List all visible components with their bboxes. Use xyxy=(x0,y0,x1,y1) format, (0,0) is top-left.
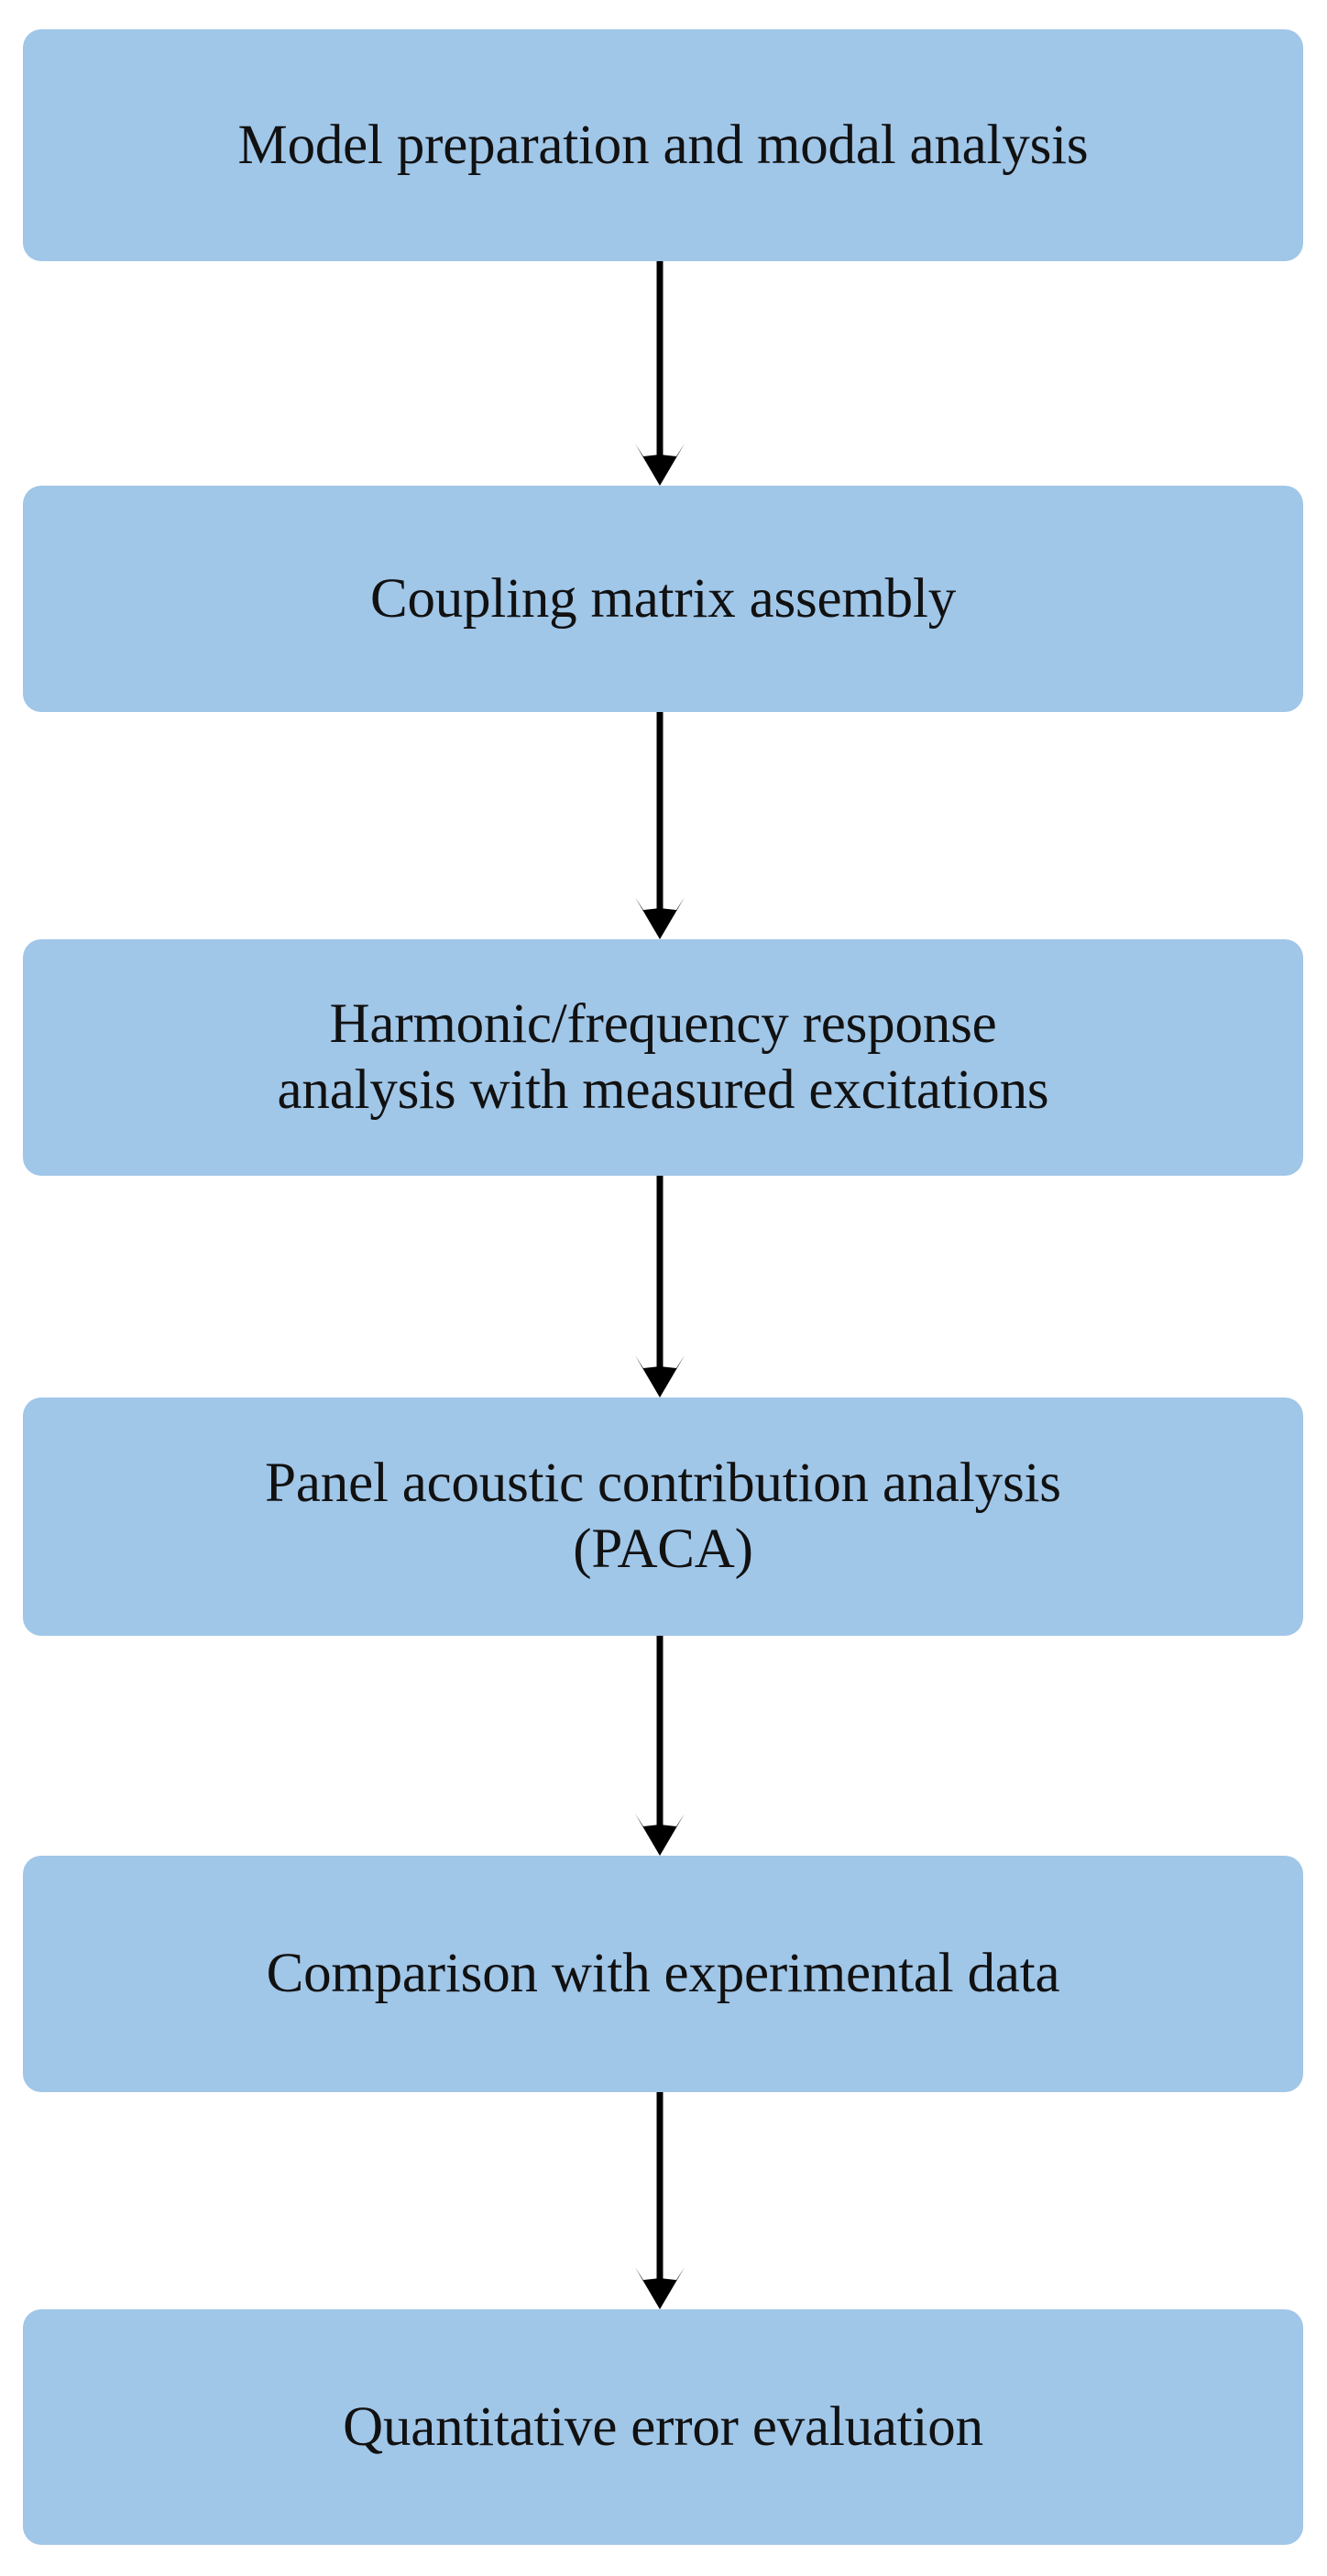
arrow-head xyxy=(635,1814,685,1856)
arrow-stem xyxy=(657,1176,663,1372)
arrow-head xyxy=(635,897,685,939)
flow-node-6[interactable]: Quantitative error evaluation xyxy=(23,2309,1303,2545)
flow-arrow-4 xyxy=(0,1636,1327,1856)
flow-node-label: Coupling matrix assembly xyxy=(370,566,956,632)
flow-node-1[interactable]: Model preparation and modal analysis xyxy=(23,29,1303,261)
flow-node-4[interactable]: Panel acoustic contribution analysis (PA… xyxy=(23,1398,1303,1636)
flow-arrow-2 xyxy=(0,712,1327,939)
flow-node-label: Panel acoustic contribution analysis (PA… xyxy=(265,1451,1061,1583)
flowchart-canvas: Model preparation and modal analysisCoup… xyxy=(0,0,1327,2576)
arrow-stem xyxy=(657,712,663,914)
flow-node-3[interactable]: Harmonic/frequency response analysis wit… xyxy=(23,939,1303,1176)
flow-arrow-1 xyxy=(0,261,1327,486)
flow-node-5[interactable]: Comparison with experimental data xyxy=(23,1856,1303,2092)
flow-arrow-3 xyxy=(0,1176,1327,1398)
arrow-stem xyxy=(657,1636,663,1830)
flow-node-label: Comparison with experimental data xyxy=(267,1941,1060,2007)
arrow-head xyxy=(635,1355,685,1398)
arrow-head xyxy=(635,444,685,486)
flow-node-label: Quantitative error evaluation xyxy=(343,2395,983,2461)
arrow-head xyxy=(635,2267,685,2309)
flow-node-2[interactable]: Coupling matrix assembly xyxy=(23,486,1303,712)
arrow-stem xyxy=(657,261,663,460)
flow-node-label: Model preparation and modal analysis xyxy=(238,113,1089,179)
flow-arrow-5 xyxy=(0,2092,1327,2309)
arrow-stem xyxy=(657,2092,663,2284)
flow-node-label: Harmonic/frequency response analysis wit… xyxy=(278,992,1049,1124)
